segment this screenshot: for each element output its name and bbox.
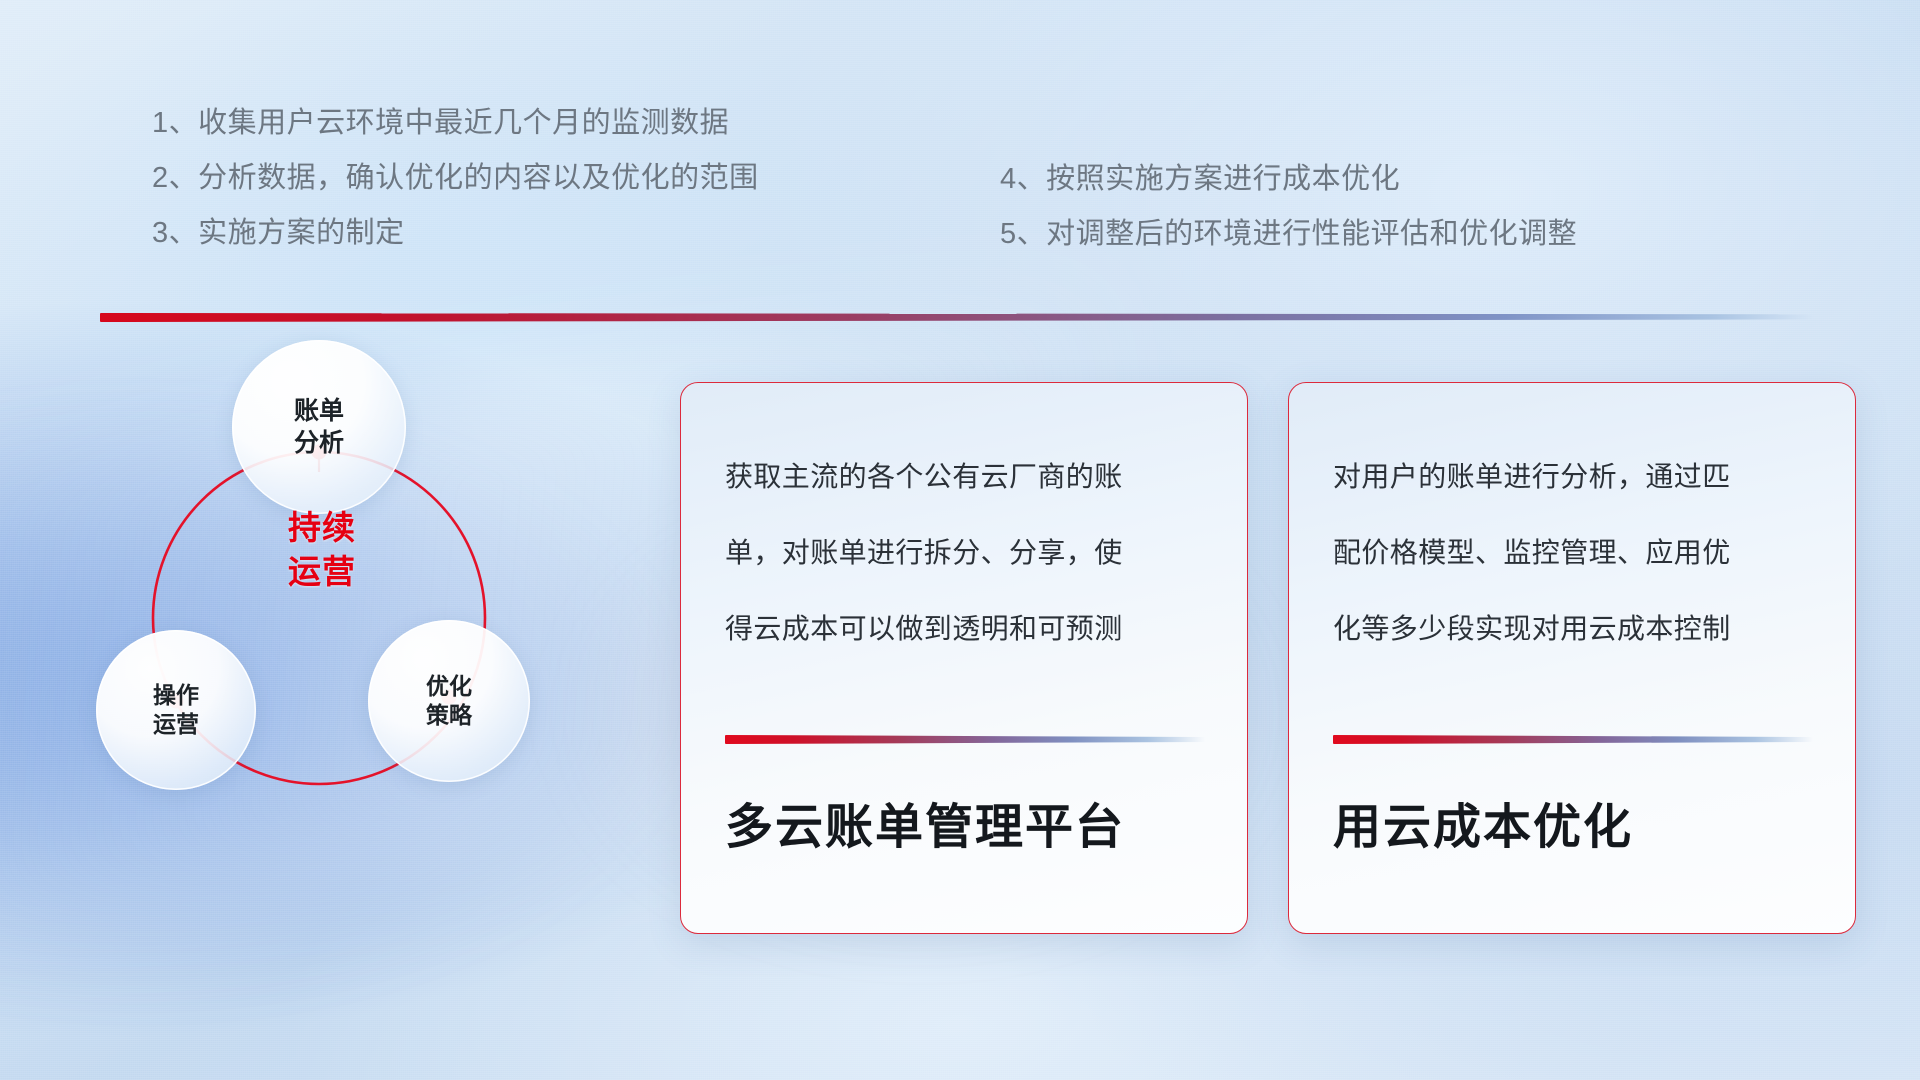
node-label-line1: 优化 [426,672,472,701]
card-description: 获取主流的各个公有云厂商的账 单，对账单进行拆分、分享，使 得云成本可以做到透明… [725,439,1217,667]
diagram-node-optimization-strategy[interactable]: 优化 策略 [368,620,530,782]
step-item-3: 3、实施方案的制定 [152,206,832,261]
step-item-5: 5、对调整后的环境进行性能评估和优化调整 [1000,207,1740,262]
diagram-node-billing-analysis[interactable]: 账单 分析 [232,340,406,514]
diagram-node-operations[interactable]: 操作 运营 [96,630,256,790]
steps-column-right: 4、按照实施方案进行成本优化 5、对调整后的环境进行性能评估和优化调整 [1000,152,1740,262]
card-text-line: 单，对账单进行拆分、分享，使 [725,515,1217,591]
node-label-line2: 分析 [294,427,344,459]
card-text-line: 获取主流的各个公有云厂商的账 [725,439,1217,515]
card-divider [1333,735,1813,744]
node-label-line2: 策略 [426,701,472,730]
card-text-line: 化等多少段实现对用云成本控制 [1333,591,1825,667]
node-label-line2: 运营 [153,710,199,739]
card-title: 用云成本优化 [1333,787,1633,857]
card-divider [725,735,1205,744]
step-item-2: 2、分析数据，确认优化的内容以及优化的范围 [152,151,832,206]
card-text-line: 得云成本可以做到透明和可预测 [725,591,1217,667]
step-item-4: 4、按照实施方案进行成本优化 [1000,152,1740,207]
card-cloud-cost-optimization[interactable]: 对用户的账单进行分析，通过匹 配价格模型、监控管理、应用优 化等多少段实现对用云… [1288,382,1856,934]
card-description: 对用户的账单进行分析，通过匹 配价格模型、监控管理、应用优 化等多少段实现对用云… [1333,439,1825,667]
step-item-1: 1、收集用户云环境中最近几个月的监测数据 [152,96,832,151]
card-title: 多云账单管理平台 [725,787,1125,857]
slide-content: 1、收集用户云环境中最近几个月的监测数据 2、分析数据，确认优化的内容以及优化的… [0,0,1920,1080]
node-label-line1: 账单 [294,395,344,427]
continuous-operation-diagram: 账单 分析 操作 运营 优化 策略 持续 运营 [100,360,620,940]
center-label-line1: 持续 [288,506,356,550]
card-multicloud-billing-platform[interactable]: 获取主流的各个公有云厂商的账 单，对账单进行拆分、分享，使 得云成本可以做到透明… [680,382,1248,934]
card-text-line: 配价格模型、监控管理、应用优 [1333,515,1825,591]
steps-column-left: 1、收集用户云环境中最近几个月的监测数据 2、分析数据，确认优化的内容以及优化的… [152,96,832,261]
section-divider [100,313,1814,322]
center-label-line2: 运营 [288,550,356,594]
diagram-center-label: 持续 运营 [252,490,392,610]
card-text-line: 对用户的账单进行分析，通过匹 [1333,439,1825,515]
node-label-line1: 操作 [153,681,199,710]
